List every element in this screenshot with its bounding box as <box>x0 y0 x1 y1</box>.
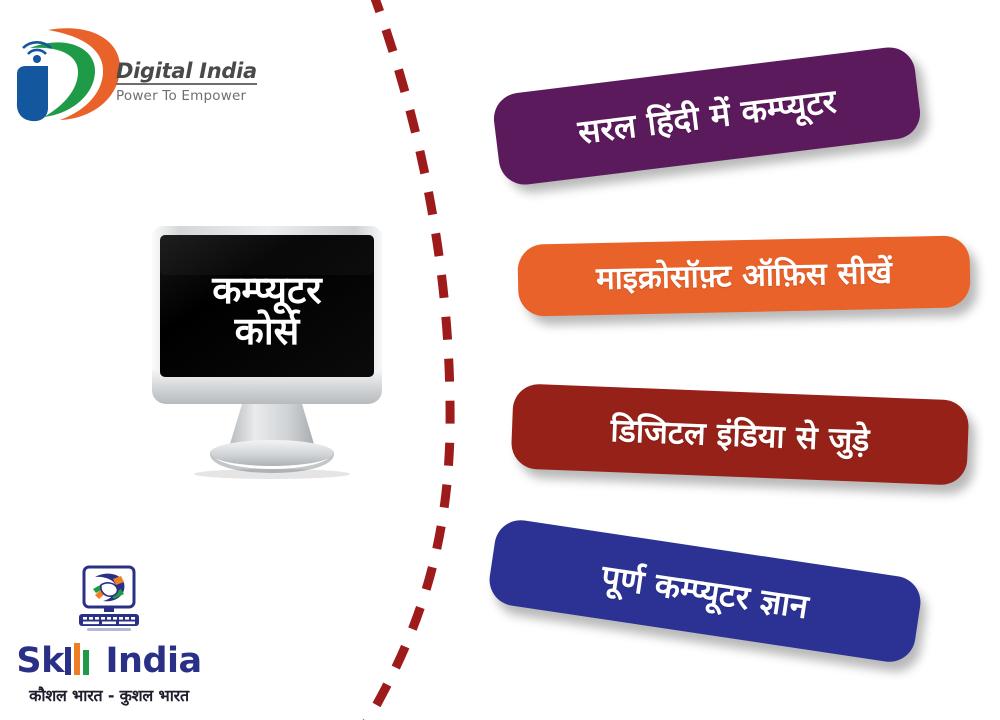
feature-banner-label: डिजिटल इंडिया से जुड़े <box>610 414 870 456</box>
digital-india-wordmark: Digital India Power To Empower <box>116 60 266 104</box>
feature-banner-label: माइक्रोसॉफ़्ट ऑफ़िस सीखें <box>596 257 892 294</box>
feature-banner-simple-hindi[interactable]: सरल हिंदी में कम्प्यूटर <box>491 45 923 188</box>
poster-canvas: Digital India Power To Empower <box>0 0 1000 720</box>
computer-monitor-illustration: कम्प्यूटर कोर्स <box>148 222 396 480</box>
monitor-icon <box>148 222 396 480</box>
skill-india-emblem-icon <box>71 565 147 637</box>
feature-banner-label: पूर्ण कम्प्यूटर ज्ञान <box>599 559 810 622</box>
feature-banner-label: सरल हिंदी में कम्प्यूटर <box>576 84 838 148</box>
skill-india-tricolor-bars-icon <box>64 641 94 679</box>
skill-india-logo: Sk India कौशल भारत - कुशल भारत <box>14 565 204 705</box>
feature-banner-complete-knowledge[interactable]: पूर्ण कम्प्यूटर ज्ञान <box>486 517 924 666</box>
feature-banner-digital-india[interactable]: डिजिटल इंडिया से जुड़े <box>511 383 970 485</box>
skill-india-word-india: India <box>94 641 202 681</box>
feature-banner-ms-office[interactable]: माइक्रोसॉफ़्ट ऑफ़िस सीखें <box>517 235 970 316</box>
digital-india-tagline: Power To Empower <box>116 88 266 104</box>
skill-india-wordmark: Sk India <box>14 641 204 679</box>
skill-india-word-sk: Sk <box>16 641 63 681</box>
digital-india-title: Digital India <box>116 60 257 85</box>
digital-india-logo: Digital India Power To Empower <box>8 22 268 132</box>
skill-india-tagline: कौशल भारत - कुशल भारत <box>14 684 204 706</box>
